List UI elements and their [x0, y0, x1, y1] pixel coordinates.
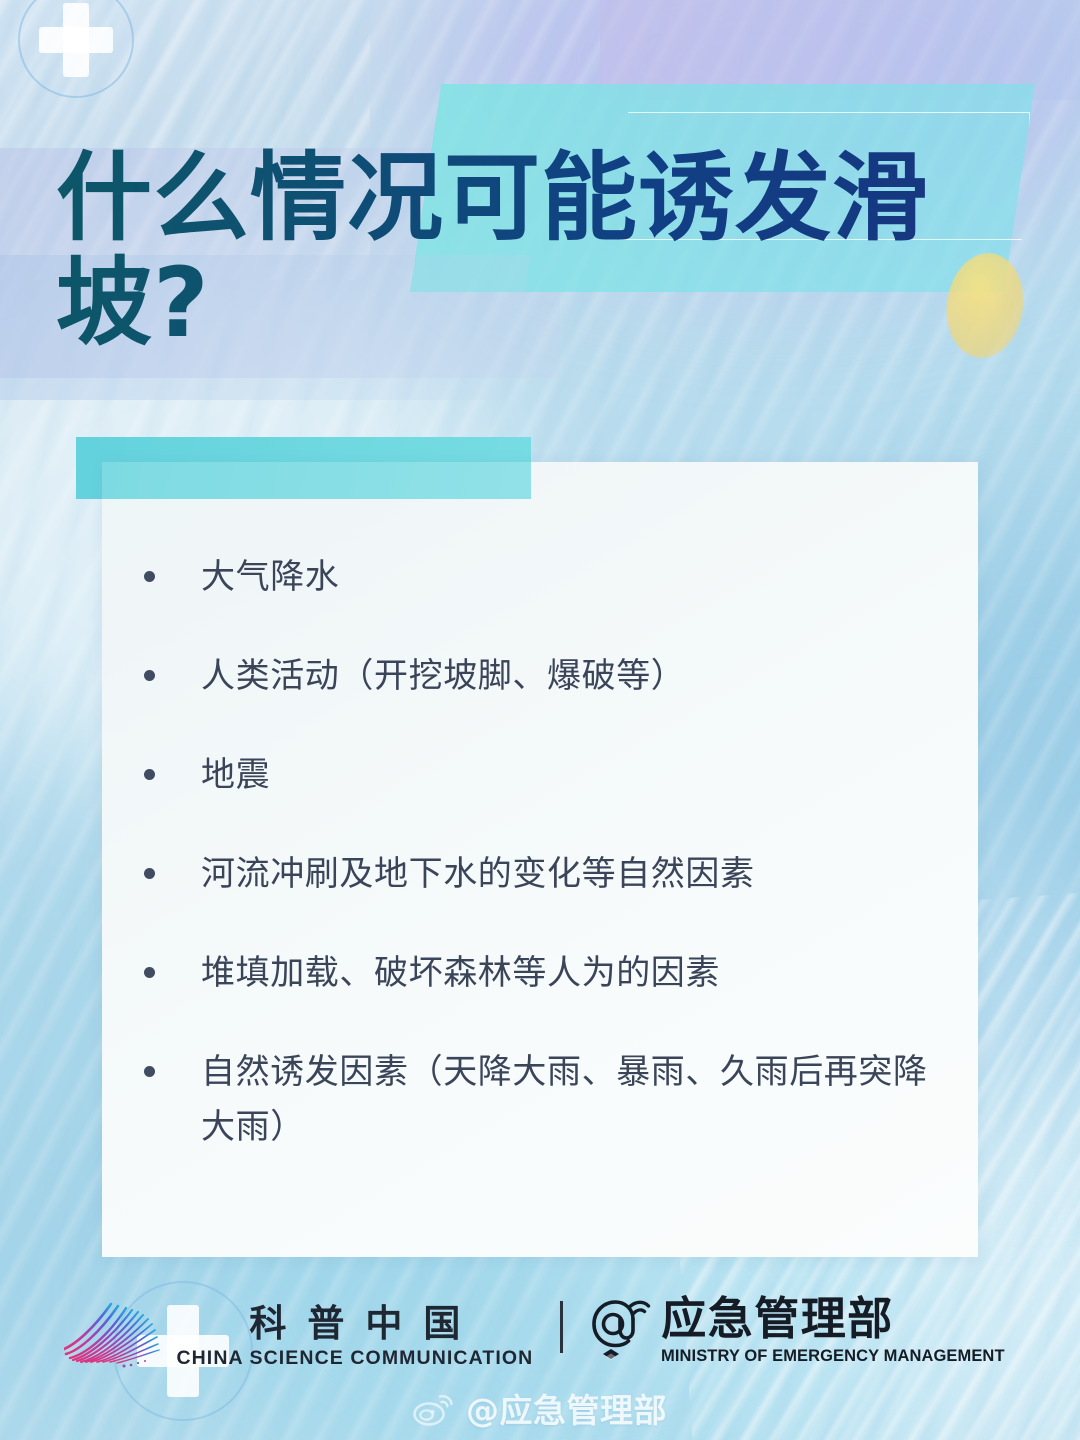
medical-cross-icon-top — [18, 0, 134, 98]
list-item: 人类活动（开挖坡脚、爆破等） — [138, 649, 944, 704]
kepu-wordmark: 科普中国 CHINA SCIENCE COMMUNICATION — [176, 1305, 533, 1369]
at-signal-icon — [590, 1297, 652, 1365]
cross-horizontal-bar — [39, 27, 113, 53]
mem-wordmark: 应急管理部 MINISTRY OF EMERGENCY MANAGEMENT — [661, 1296, 1015, 1364]
ministry-emergency-management-logo: 应急管理部 MINISTRY OF EMERGENCY MANAGEMENT — [590, 1297, 1015, 1365]
list-bullet-icon — [144, 1066, 155, 1077]
list-item-label: 大气降水 — [201, 550, 339, 605]
mem-cn-label: 应急管理部 — [661, 1296, 1015, 1341]
list-item: 大气降水 — [138, 550, 944, 605]
page-title: 什么情况可能诱发滑坡? — [56, 146, 1016, 355]
kepu-cn-label: 科普中国 — [228, 1305, 481, 1342]
kepu-en-label: CHINA SCIENCE COMMUNICATION — [176, 1349, 533, 1369]
mem-en-label: MINISTRY OF EMERGENCY MANAGEMENT — [661, 1347, 1005, 1364]
list-item: 自然诱发因素（天降大雨、暴雨、久雨后再突降大雨） — [138, 1045, 944, 1155]
list-item-label: 河流冲刷及地下水的变化等自然因素 — [201, 847, 755, 902]
list-bullet-icon — [144, 967, 155, 978]
list-item-label: 自然诱发因素（天降大雨、暴雨、久雨后再突降大雨） — [201, 1045, 944, 1155]
cause-list: 大气降水 人类活动（开挖坡脚、爆破等） 地震 河流冲刷及地下水的变化等自然因素 … — [102, 462, 978, 1257]
list-item-label: 人类活动（开挖坡脚、爆破等） — [201, 649, 685, 704]
list-item: 地震 — [138, 748, 944, 803]
weibo-handle-label: @应急管理部 — [466, 1394, 667, 1427]
poster-canvas: 什么情况可能诱发滑坡? 大气降水 人类活动（开挖坡脚、爆破等） 地震 河流冲刷及… — [0, 0, 1080, 1440]
list-bullet-icon — [144, 868, 155, 879]
kepu-fan-logo-icon — [64, 1292, 160, 1370]
list-item-label: 地震 — [201, 748, 270, 803]
list-item: 堆填加载、破坏森林等人为的因素 — [138, 946, 944, 1001]
list-bullet-icon — [144, 670, 155, 681]
kepu-china-logo: 科普中国 CHINA SCIENCE COMMUNICATION — [64, 1292, 533, 1370]
footer-logos: 科普中国 CHINA SCIENCE COMMUNICATION — [0, 1292, 1080, 1370]
weibo-icon — [413, 1393, 455, 1427]
list-item: 河流冲刷及地下水的变化等自然因素 — [138, 847, 944, 902]
list-item-label: 堆填加载、破坏森林等人为的因素 — [201, 946, 720, 1001]
weibo-handle-row: @应急管理部 — [0, 1393, 1080, 1427]
logo-divider — [560, 1301, 563, 1353]
decor-rect-lavender — [600, 0, 1080, 100]
list-bullet-icon — [144, 571, 155, 582]
list-bullet-icon — [144, 769, 155, 780]
